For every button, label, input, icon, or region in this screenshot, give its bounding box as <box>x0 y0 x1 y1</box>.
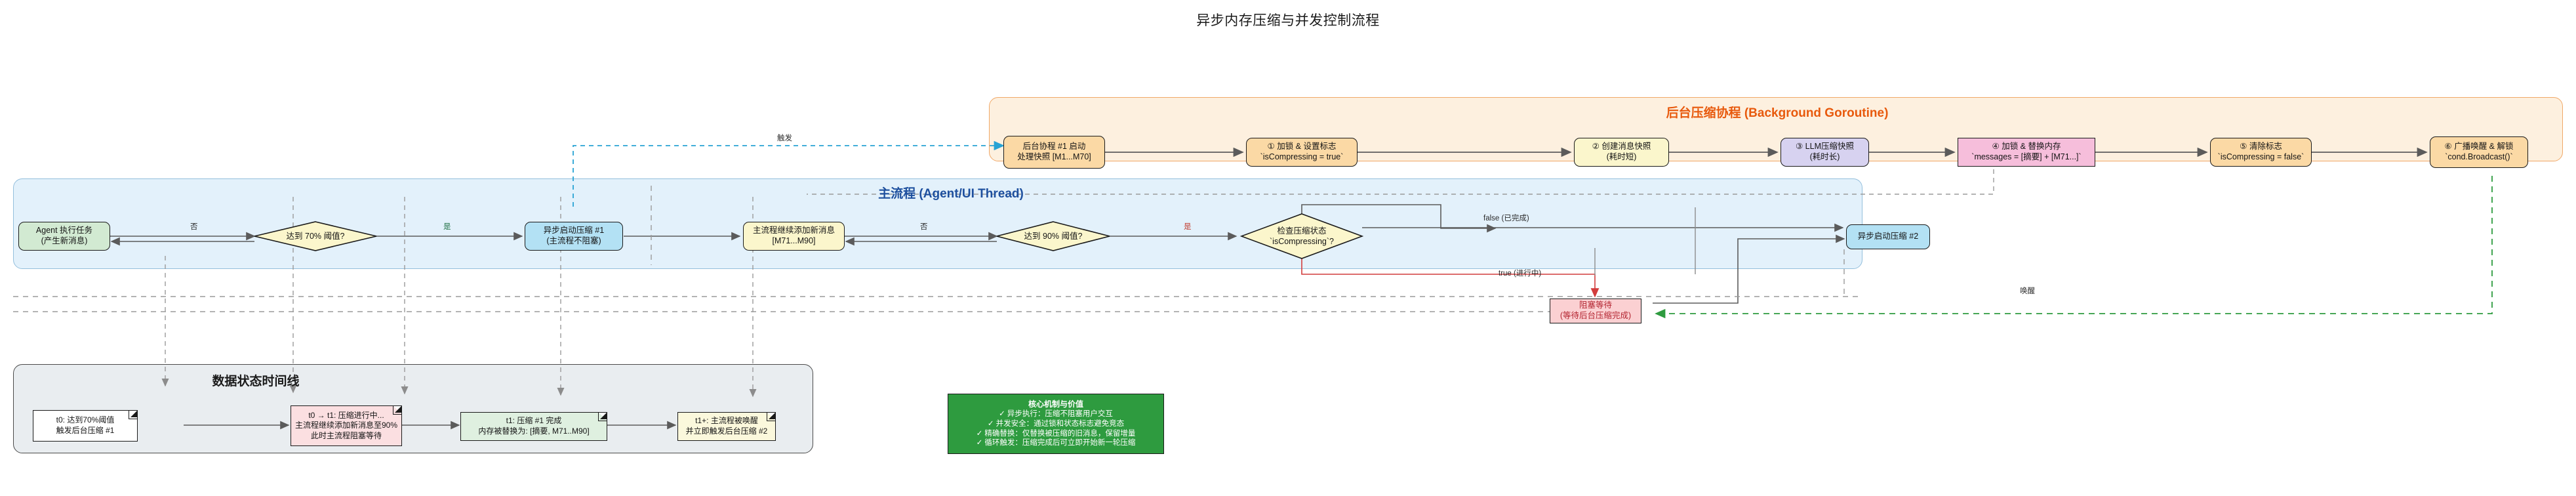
node-block-wait-line1: 阻塞等待 <box>1579 300 1612 311</box>
timeline-note-t1[interactable]: t1: 压缩 #1 完成 内存被替换为: [摘要, M71..M90] <box>460 412 607 441</box>
page-title: 异步内存压缩与并发控制流程 <box>0 10 2576 30</box>
timeline-note-t0[interactable]: t0: 达到70%阈值 触发后台压缩 #1 <box>33 410 138 442</box>
node-agent-task-line2: (产生新消息) <box>41 236 88 247</box>
note-fold-icon <box>767 413 775 421</box>
timeline-note-t0-t1[interactable]: t0 → t1: 压缩进行中... 主流程继续添加新消息至90% 此时主流程阻塞… <box>291 405 402 446</box>
edge-label-yes-90: 是 <box>1184 221 1192 232</box>
node-step6-line2: `cond.Broadcast()` <box>2445 152 2513 163</box>
edge-label-wake: 唤醒 <box>2020 285 2035 296</box>
edge-label-state-false: false (已完成) <box>1483 213 1529 223</box>
timeline-note-t0t1-line3: 此时主流程阻塞等待 <box>311 431 382 442</box>
timeline-note-t0t1-line1: t0 → t1: 压缩进行中... <box>308 411 384 421</box>
summary-box: 核心机制与价值 ✓ 异步执行：压缩不阻塞用户交互 ✓ 并发安全：通过锁和状态标志… <box>948 394 1164 454</box>
timeline-note-t1-plus[interactable]: t1+: 主流程被唤醒 并立即触发后台压缩 #2 <box>677 412 776 441</box>
node-step2-line1: ② 创建消息快照 <box>1592 142 1651 152</box>
node-step1-lock-set-flag[interactable]: ① 加锁 & 设置标志 `isCompressing = true` <box>1246 138 1358 167</box>
node-check-state-line1: 检查压缩状态 <box>1277 226 1326 237</box>
edge-label-no-90: 否 <box>920 221 928 232</box>
node-bg-start[interactable]: 后台协程 #1 启动 处理快照 [M1...M70] <box>1003 136 1105 169</box>
node-check-state-line2: `isCompressing`? <box>1270 237 1334 247</box>
node-add-messages-line2: [M71...M90] <box>773 236 816 247</box>
node-step3-llm-compress[interactable]: ③ LLM压缩快照 (耗时长) <box>1781 138 1869 167</box>
node-check-compressing-state[interactable]: 检查压缩状态 `isCompressing`? <box>1249 226 1354 247</box>
edge-label-no-70: 否 <box>190 221 198 232</box>
summary-item-2: ✓ 精确替换：仅替换被压缩的旧消息，保留增量 <box>976 429 1136 439</box>
node-async-compress-1[interactable]: 异步启动压缩 #1 (主流程不阻塞) <box>525 222 623 251</box>
timeline-note-t0-line1: t0: 达到70%阈值 <box>56 415 115 426</box>
node-async-compress-2[interactable]: 异步启动压缩 #2 <box>1846 224 1930 249</box>
node-step6-line1: ⑥ 广播唤醒 & 解锁 <box>2445 142 2514 152</box>
node-block-wait-line2: (等待后台压缩完成) <box>1560 311 1631 321</box>
node-add-messages-line1: 主流程继续添加新消息 <box>753 226 835 236</box>
lane-label-timeline: 数据状态时间线 <box>118 371 393 389</box>
node-step6-broadcast-unlock[interactable]: ⑥ 广播唤醒 & 解锁 `cond.Broadcast()` <box>2430 136 2528 168</box>
node-add-new-messages[interactable]: 主流程继续添加新消息 [M71...M90] <box>743 222 845 251</box>
node-threshold-90-label[interactable]: 达到 90% 阈值? <box>1001 230 1106 244</box>
node-step3-line2: (耗时长) <box>1810 152 1840 163</box>
note-fold-icon <box>129 411 137 419</box>
node-async-2-line1: 异步启动压缩 #2 <box>1858 232 1918 242</box>
timeline-note-t0-line2: 触发后台压缩 #1 <box>56 426 115 436</box>
timeline-note-t1-line2: 内存被替换为: [摘要, M71..M90] <box>478 426 589 437</box>
summary-item-0: ✓ 异步执行：压缩不阻塞用户交互 <box>999 409 1113 419</box>
node-threshold-70-label[interactable]: 达到 70% 阈值? <box>263 230 368 244</box>
node-agent-task-line1: Agent 执行任务 <box>36 226 92 236</box>
node-step2-line2: (耗时短) <box>1607 152 1637 163</box>
node-step1-line2: `isCompressing = true` <box>1260 152 1344 163</box>
summary-heading: 核心机制与价值 <box>1028 400 1083 409</box>
node-agent-task[interactable]: Agent 执行任务 (产生新消息) <box>18 222 110 251</box>
timeline-note-t0t1-line2: 主流程继续添加新消息至90% <box>295 421 397 431</box>
node-threshold-70-text: 达到 70% 阈值? <box>287 232 345 242</box>
node-step4-line2: `messages = [摘要] + [M71...]` <box>1971 152 2081 163</box>
node-step4-line1: ④ 加锁 & 替换内存 <box>1992 142 2061 152</box>
node-block-wait[interactable]: 阻塞等待 (等待后台压缩完成) <box>1550 299 1641 323</box>
node-step1-line1: ① 加锁 & 设置标志 <box>1268 142 1337 152</box>
note-fold-icon <box>393 406 401 415</box>
node-bg-start-line2: 处理快照 [M1...M70] <box>1017 152 1091 163</box>
summary-item-3: ✓ 循环触发：压缩完成后可立即开始新一轮压缩 <box>976 438 1136 448</box>
lane-label-goroutine: 后台压缩协程 (Background Goroutine) <box>1574 103 1981 121</box>
node-step5-line1: ⑤ 清除标志 <box>2240 142 2282 152</box>
summary-item-1: ✓ 并发安全：通过锁和状态标志避免竞态 <box>988 419 1124 429</box>
edge-label-trigger: 触发 <box>777 133 792 143</box>
node-step5-line2: `isCompressing = false` <box>2218 152 2304 163</box>
node-async-1-line1: 异步启动压缩 #1 <box>544 226 604 236</box>
node-step3-line1: ③ LLM压缩快照 <box>1796 142 1854 152</box>
timeline-note-t1p-line1: t1+: 主流程被唤醒 <box>695 416 758 426</box>
timeline-note-t1p-line2: 并立即触发后台压缩 #2 <box>686 426 768 437</box>
edge-label-yes-70: 是 <box>443 221 451 232</box>
note-fold-icon <box>598 413 607 421</box>
node-bg-start-line1: 后台协程 #1 启动 <box>1023 142 1086 152</box>
node-threshold-90-text: 达到 90% 阈值? <box>1024 232 1083 242</box>
node-step2-create-snapshot[interactable]: ② 创建消息快照 (耗时短) <box>1574 138 1669 167</box>
node-async-1-line2: (主流程不阻塞) <box>546 236 601 247</box>
node-step4-replace-memory[interactable]: ④ 加锁 & 替换内存 `messages = [摘要] + [M71...]` <box>1958 138 2095 167</box>
lane-label-main: 主流程 (Agent/UI Thread) <box>807 184 1095 201</box>
timeline-note-t1-line1: t1: 压缩 #1 完成 <box>506 416 562 426</box>
node-step5-clear-flag[interactable]: ⑤ 清除标志 `isCompressing = false` <box>2210 138 2312 167</box>
edge-label-state-true: true (进行中) <box>1499 268 1541 278</box>
